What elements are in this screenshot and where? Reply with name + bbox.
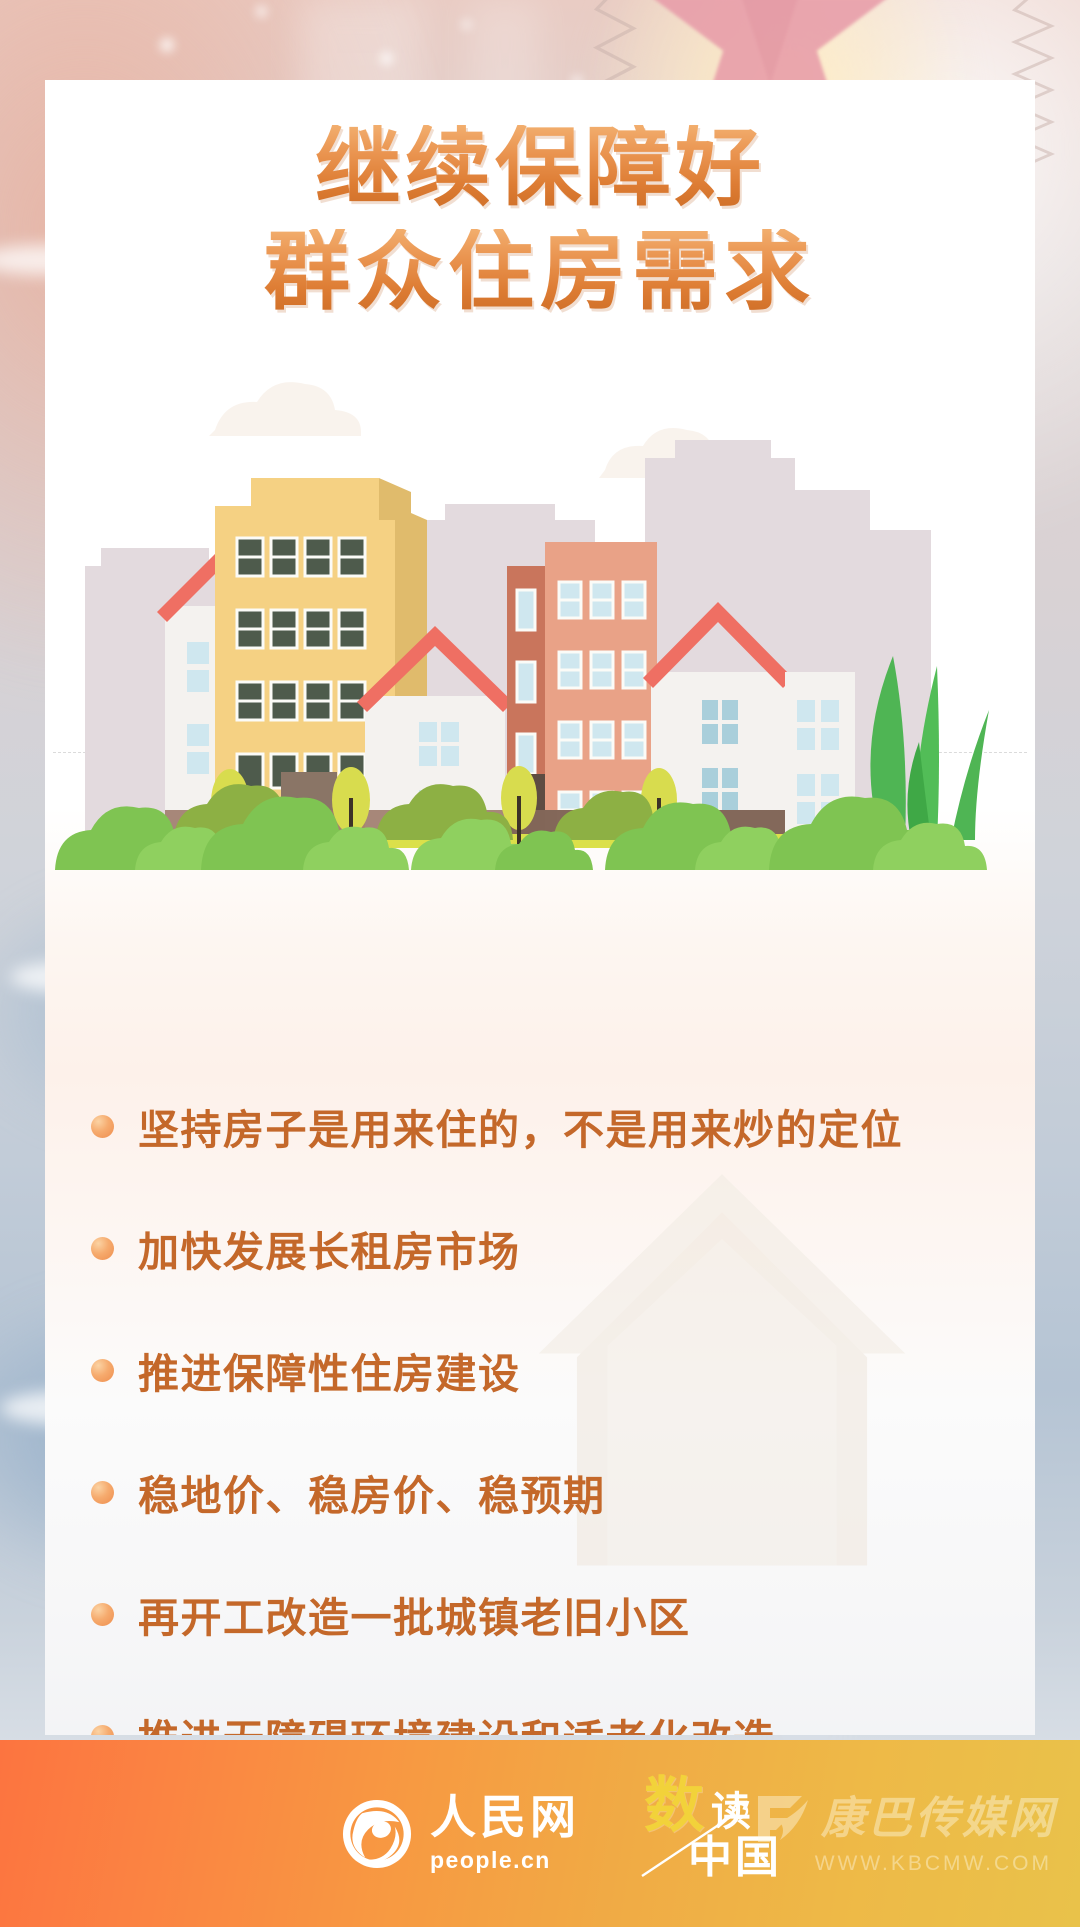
bullet-dot-icon [91,1725,114,1736]
watermark-site-url: WWW.KBCMW.COM [815,1852,1052,1876]
bullet-label: 加快发展长租房市场 [138,1218,521,1278]
watermark-site-name: 康巴传媒网 [821,1797,1056,1841]
site-watermark: 康巴传媒网 WWW.KBCMW.COM [749,1792,1056,1876]
bullet-dot-icon [91,1481,114,1504]
brand-name-en: people.cn [430,1847,551,1874]
peoples-daily-wordmark: 人民网 people.cn [430,1794,580,1874]
bullet-label: 推进保障性住房建设 [138,1340,521,1400]
sparkle-dot [462,20,471,29]
list-item: 加快发展长租房市场 [75,1187,1005,1309]
kbcmw-logo-icon [749,1792,811,1846]
policy-bullet-list: 坚持房子是用来住的，不是用来炒的定位 加快发展长租房市场 推进保障性住房建设 稳… [75,1065,1005,1735]
title-line-1: 继续保障好 [45,125,1035,211]
bullet-label: 坚持房子是用来住的，不是用来炒的定位 [138,1096,903,1156]
peoples-daily-logo-icon [340,1797,414,1871]
brand-name-cn: 人民网 [430,1794,580,1840]
series-char-du: 读 [711,1792,751,1832]
bullet-label: 再开工改造一批城镇老旧小区 [138,1584,691,1644]
list-item: 推进保障性住房建设 [75,1309,1005,1431]
list-item: 稳地价、稳房价、稳预期 [75,1431,1005,1553]
list-item: 再开工改造一批城镇老旧小区 [75,1553,1005,1675]
bullet-dot-icon [91,1115,114,1138]
series-char-shu: 数 [644,1776,705,1836]
bullet-label: 稳地价、稳房价、稳预期 [138,1462,606,1522]
poster-footer: 人民网 people.cn 数 读 中国 康巴传媒网 WWW.KBCMW.COM [0,1740,1080,1927]
bullet-dot-icon [91,1237,114,1260]
bullet-dot-icon [91,1359,114,1382]
watermark-row: 康巴传媒网 [749,1792,1056,1846]
poster-card: 继续保障好 群众住房需求 [45,80,1035,1735]
list-item: 坚持房子是用来住的，不是用来炒的定位 [75,1065,1005,1187]
list-item: 推进无障碍环境建设和适老化改造 [75,1675,1005,1735]
bullet-dot-icon [91,1603,114,1626]
sparkle-dot [160,38,174,52]
title-line-2: 群众住房需求 [45,229,1035,315]
bullet-label: 推进无障碍环境建设和适老化改造 [138,1706,776,1735]
sparkle-dot [380,52,393,65]
poster-title: 继续保障好 群众住房需求 [45,125,1035,315]
residential-buildings-illustration [45,370,1035,870]
peoples-daily-brand: 人民网 people.cn [340,1794,580,1874]
sparkle-dot [256,6,267,17]
series-top-row: 数 读 [644,1776,751,1836]
